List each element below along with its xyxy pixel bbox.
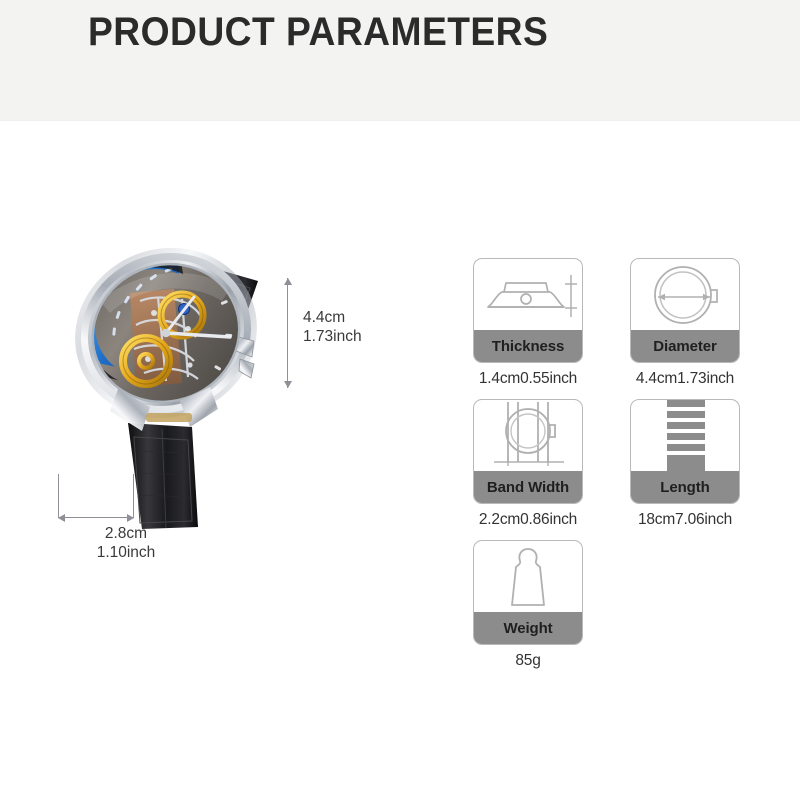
spec-item-thickness: Thickness 1.4cm0.55inch — [473, 258, 583, 388]
spec-value-weight: 85g — [473, 652, 583, 670]
height-dimension-callout: 4.4cm 1.73inch — [287, 278, 407, 388]
arrow-left-icon — [58, 514, 65, 522]
page-header: PRODUCT PARAMETERS — [0, 0, 800, 121]
spec-row: Weight 85g — [473, 540, 773, 670]
spec-card-length[interactable]: Length — [630, 399, 740, 504]
dimension-line-vertical — [287, 278, 288, 388]
extension-line-left — [58, 474, 59, 518]
spec-card-band-width[interactable]: Band Width — [473, 399, 583, 504]
product-figure: 4.4cm 1.73inch 2.8cm 1.10inch — [0, 121, 400, 800]
spec-value-band-width: 2.2cm0.86inch — [473, 511, 583, 529]
spec-card-weight[interactable]: Weight — [473, 540, 583, 645]
spec-card-diameter[interactable]: Diameter — [630, 258, 740, 363]
watch-band-lug-width-icon — [474, 400, 582, 471]
width-dimension-text: 2.8cm 1.10inch — [97, 524, 156, 562]
watch-dial — [70, 242, 260, 424]
spec-item-diameter: Diameter 4.4cm1.73inch — [630, 258, 740, 388]
dimension-line-horizontal — [58, 517, 134, 518]
arrow-down-icon — [284, 381, 292, 388]
arrow-right-icon — [127, 514, 134, 522]
watch-case-side-profile-icon — [474, 259, 582, 330]
spec-item-weight: Weight 85g — [473, 540, 583, 670]
spec-card-grid: Thickness 1.4cm0.55inch — [473, 258, 773, 681]
extension-line-right — [133, 474, 134, 518]
watch-dial-diameter-icon — [631, 259, 739, 330]
height-dimension-text: 4.4cm 1.73inch — [300, 306, 364, 348]
weight-block-icon — [474, 541, 582, 612]
strap-length-segments-icon — [631, 400, 739, 471]
spec-card-thickness[interactable]: Thickness — [473, 258, 583, 363]
spec-row: Band Width 2.2cm0.86inch — [473, 399, 773, 529]
spec-value-length: 18cm7.06inch — [630, 511, 740, 529]
height-cm: 4.4cm — [303, 308, 362, 327]
width-cm: 2.8cm — [97, 524, 156, 543]
spec-value-thickness: 1.4cm0.55inch — [473, 370, 583, 388]
spec-row: Thickness 1.4cm0.55inch — [473, 258, 773, 388]
spec-item-length: Length 18cm7.06inch — [630, 399, 740, 529]
arrow-up-icon — [284, 278, 292, 285]
spec-label-thickness: Thickness — [474, 330, 582, 362]
width-inch: 1.10inch — [97, 543, 156, 562]
spec-label-length: Length — [631, 471, 739, 503]
width-dimension-callout: 2.8cm 1.10inch — [58, 474, 194, 574]
spec-value-diameter: 4.4cm1.73inch — [630, 370, 740, 388]
spec-item-band-width: Band Width 2.2cm0.86inch — [473, 399, 583, 529]
spec-label-band-width: Band Width — [474, 471, 582, 503]
page-title: PRODUCT PARAMETERS — [88, 10, 548, 55]
spec-label-weight: Weight — [474, 612, 582, 644]
spec-label-diameter: Diameter — [631, 330, 739, 362]
height-inch: 1.73inch — [303, 327, 362, 346]
